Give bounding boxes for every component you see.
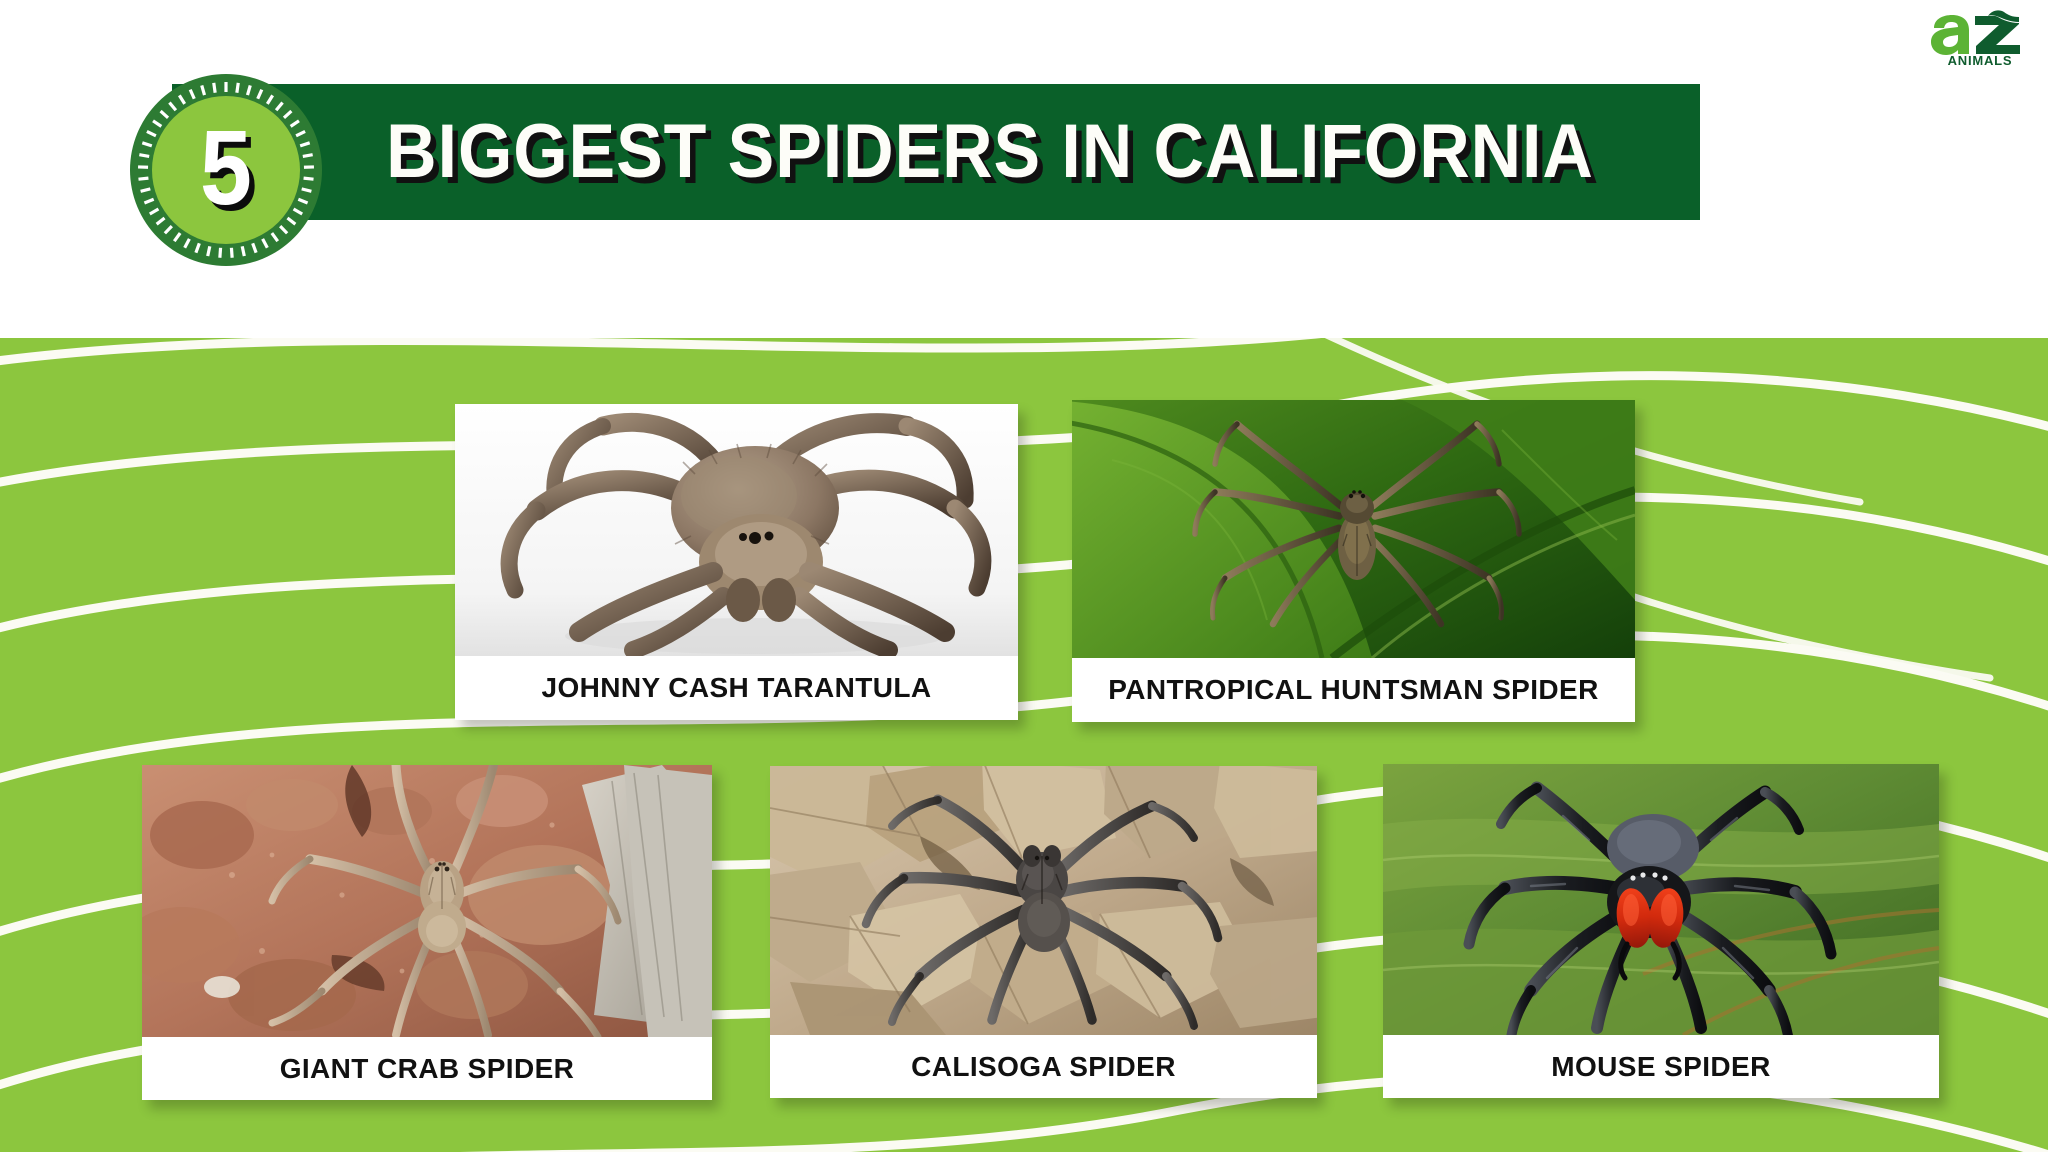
spider-card-calisoga-spider[interactable]: CALISOGA SPIDER <box>770 766 1317 1098</box>
spider-card-mouse-spider[interactable]: MOUSE SPIDER <box>1383 764 1939 1098</box>
rank-badge: 5 <box>128 72 324 268</box>
calisoga-spider-photo <box>770 766 1317 1035</box>
spider-card-pantropical-huntsman-spider[interactable]: PANTROPICAL HUNTSMAN SPIDER <box>1072 400 1635 722</box>
page-title: BIGGEST SPIDERS IN CALIFORNIA <box>355 84 1625 220</box>
logo-subtext: ANIMALS <box>1948 53 2013 66</box>
spider-card-label: JOHNNY CASH TARANTULA <box>455 656 1018 720</box>
spider-card-giant-crab-spider[interactable]: GIANT CRAB SPIDER <box>142 765 712 1100</box>
spider-card-johnny-cash-tarantula[interactable]: JOHNNY CASH TARANTULA <box>455 404 1018 720</box>
johnny-cash-tarantula-photo <box>455 404 1018 656</box>
spider-card-label: GIANT CRAB SPIDER <box>142 1037 712 1100</box>
pantropical-huntsman-spider-photo <box>1072 400 1635 658</box>
spider-card-label: MOUSE SPIDER <box>1383 1035 1939 1098</box>
infographic-page: ANIMALS BIGGEST SPIDERS IN CALIFORNIA <box>0 0 2048 1152</box>
mouse-spider-photo <box>1383 764 1939 1035</box>
spider-card-label: PANTROPICAL HUNTSMAN SPIDER <box>1072 658 1635 722</box>
az-animals-logo[interactable]: ANIMALS <box>1926 4 2034 66</box>
spider-card-label: CALISOGA SPIDER <box>770 1035 1317 1098</box>
badge-number: 5 <box>140 72 312 268</box>
giant-crab-spider-photo <box>142 765 712 1037</box>
